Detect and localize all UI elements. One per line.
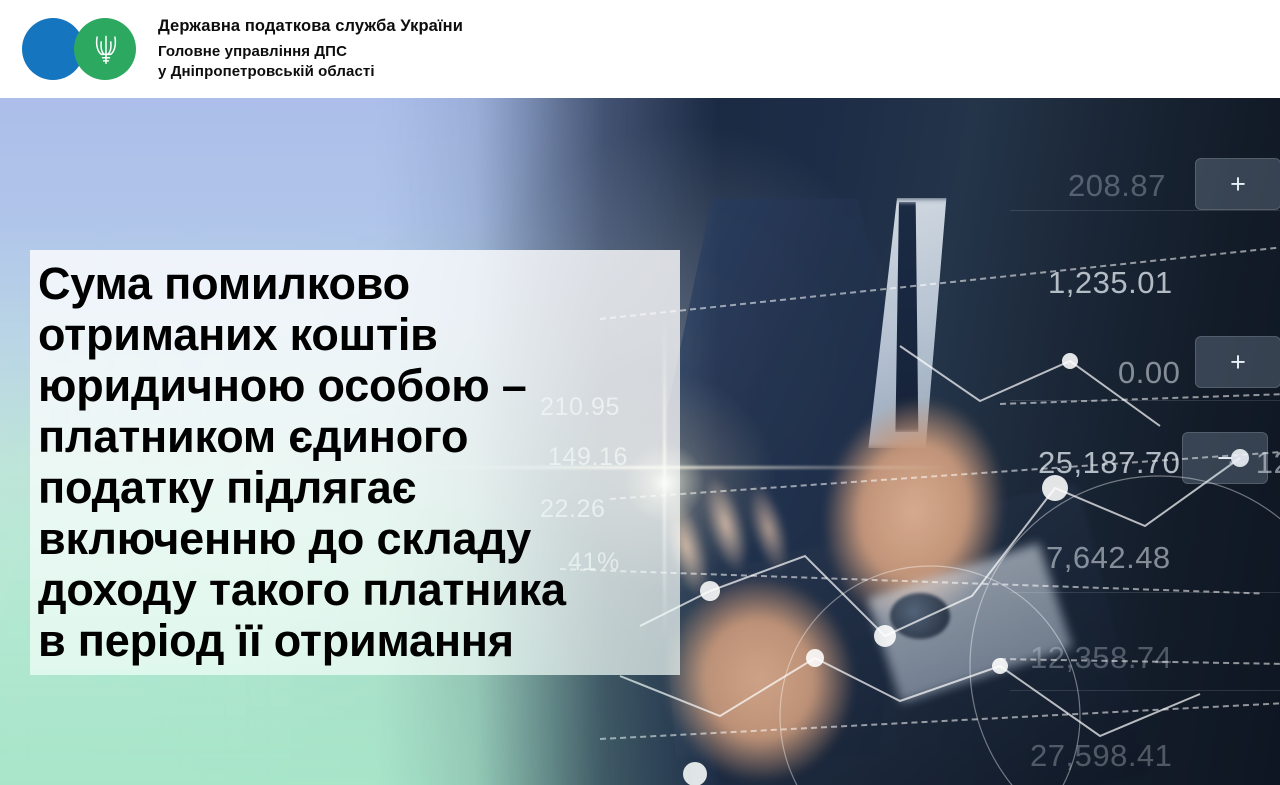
readout-row-separator: [1010, 210, 1280, 211]
readout-row-separator: [1010, 690, 1280, 691]
readout-row-separator: [1010, 592, 1280, 593]
headline-line: платником єдиного: [38, 411, 710, 462]
headline-line: Сума помилково: [38, 258, 710, 309]
financial-readout-value: 25,187.70: [1038, 445, 1180, 481]
financial-readout-value: 0.00: [1118, 355, 1180, 391]
increment-button[interactable]: +: [1195, 336, 1280, 388]
page-headline: Сума помилковоотриманих коштівюридичною …: [30, 250, 710, 667]
financial-readout-partial: − 12: [1228, 445, 1280, 481]
headline-line: включенню до складу: [38, 513, 710, 564]
agency-name-regional-line2: у Дніпропетровській області: [158, 62, 463, 82]
agency-name-national: Державна податкова служба України: [158, 17, 463, 35]
financial-readout-value: 12,358.74: [1030, 640, 1172, 676]
headline-line: отриманих коштів: [38, 309, 710, 360]
agency-name-regional: Головне управління ДПС у Дніпропетровськ…: [158, 42, 463, 82]
headline-line: юридичною особою –: [38, 360, 710, 411]
headline-line: податку підлягає: [38, 462, 710, 513]
agency-logo: [22, 14, 144, 84]
page-header: Державна податкова служба України Головн…: [0, 0, 1280, 98]
financial-readout-value: 1,235.01: [1048, 265, 1173, 301]
headline-line: доходу такого платника: [38, 564, 710, 615]
increment-button[interactable]: +: [1195, 158, 1280, 210]
financial-readout-value: 7,642.48: [1046, 540, 1171, 576]
financial-readout-value: 208.87: [1068, 168, 1166, 204]
agency-titles: Державна податкова служба України Головн…: [158, 17, 463, 82]
ukraine-trident-icon: [92, 33, 120, 66]
headline-line: в період її отримання: [38, 615, 710, 666]
slide-root: Державна податкова служба України Головн…: [0, 0, 1280, 785]
financial-readout-value: 27,598.41: [1030, 738, 1172, 774]
agency-name-regional-line1: Головне управління ДПС: [158, 42, 463, 62]
readout-row-separator: [1010, 400, 1280, 401]
